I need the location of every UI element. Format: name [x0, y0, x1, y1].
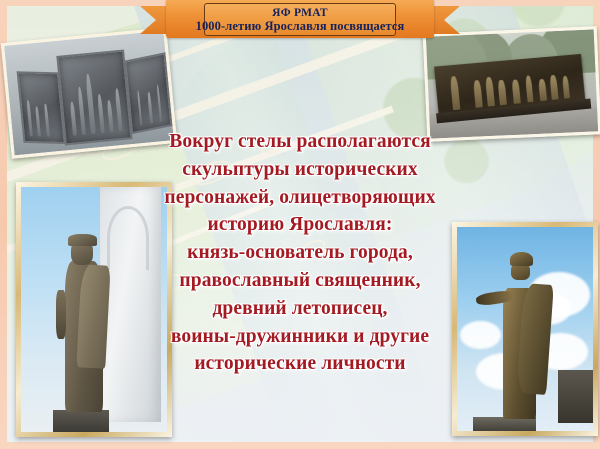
- ribbon-subtitle: 1000-летию Ярославля посвящается: [196, 19, 405, 33]
- caption-line-4: историю Ярославля:: [96, 211, 504, 239]
- prince-pedestal: [473, 417, 536, 431]
- prince-wall: [558, 370, 593, 423]
- caption-line-1: Вокруг стелы располагаются: [96, 128, 504, 156]
- photo-bronze-relief: [423, 26, 600, 141]
- caption-text-block: Вокруг стелы располагаются скульптуры ис…: [96, 128, 504, 378]
- ribbon-banner: ЯФ РМАТ 1000-летию Ярославля посвящается: [140, 0, 460, 40]
- caption-line-7: древний летописец,: [96, 295, 504, 323]
- caption-line-5: князь-основатель города,: [96, 239, 504, 267]
- relief-panel-right: [124, 52, 173, 135]
- ribbon-body: ЯФ РМАТ 1000-летию Ярославля посвящается: [166, 0, 434, 38]
- prince-helmet: [510, 252, 533, 266]
- caption-line-9: исторические личности: [96, 350, 504, 378]
- slide-root: Вокруг стелы располагаются скульптуры ис…: [0, 0, 600, 449]
- relief-figures-left: [18, 73, 63, 142]
- chronicler-scroll: [56, 290, 66, 339]
- chronicler-pedestal: [53, 410, 108, 432]
- caption-line-8: воины-дружинники и другие: [96, 323, 504, 351]
- relief-figures-right: [127, 55, 172, 133]
- chronicler-hat: [68, 234, 97, 246]
- caption-line-2: скульптуры исторических: [96, 156, 504, 184]
- caption-line-6: православный священник,: [96, 267, 504, 295]
- caption-line-3: персонажей, олицетворяющих: [96, 184, 504, 212]
- ribbon-plaque: ЯФ РМАТ 1000-летию Ярославля посвящается: [204, 3, 396, 36]
- ribbon-title: ЯФ РМАТ: [272, 7, 328, 19]
